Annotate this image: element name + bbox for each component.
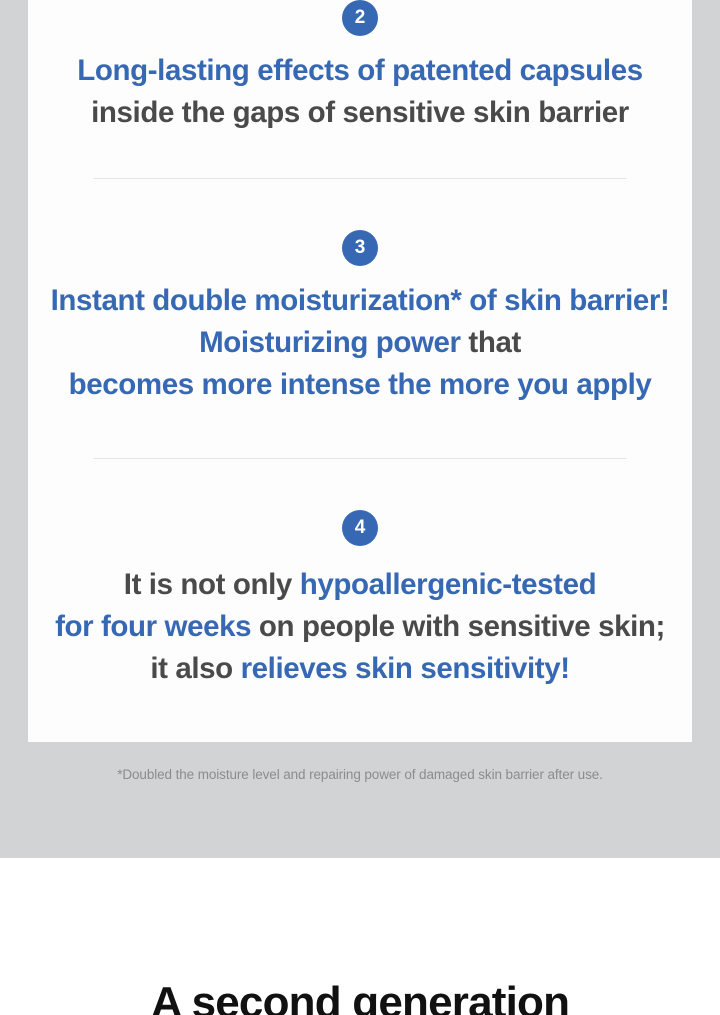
headline-line: Moisturizing power that	[28, 322, 692, 364]
headline-segment: becomes more intense the more you apply	[69, 368, 652, 401]
headline-segment: Instant double moisturization* of skin b…	[51, 284, 670, 317]
next-section-panel: A second generation	[0, 858, 720, 1015]
headline-segment: Moisturizing power	[199, 326, 461, 359]
feature-headline-2: Long-lasting effects of patented capsule…	[28, 50, 692, 134]
feature-headline-3: Instant double moisturization* of skin b…	[28, 280, 692, 406]
headline-segment: for four weeks	[55, 610, 251, 643]
feature-block-2: 2 Long-lasting effects of patented capsu…	[28, 0, 692, 134]
headline-segment: inside the gaps of sensitive skin barrie…	[91, 96, 629, 129]
headline-segment: It is not only	[124, 568, 300, 601]
footnote-disclaimer: *Doubled the moisture level and repairin…	[0, 765, 720, 785]
headline-line: Long-lasting effects of patented capsule…	[28, 50, 692, 92]
feature-highlights-card: 2 Long-lasting effects of patented capsu…	[28, 0, 692, 742]
headline-segment: Long-lasting effects of patented capsule…	[77, 54, 643, 87]
headline-segment: hypoallergenic-tested	[300, 568, 597, 601]
headline-segment: it also	[150, 652, 240, 685]
feature-block-3: 3 Instant double moisturization* of skin…	[28, 230, 692, 406]
headline-segment: relieves skin sensitivity!	[241, 652, 570, 685]
next-section-title: A second generation	[0, 978, 720, 1015]
step-number-badge-4: 4	[342, 510, 378, 546]
step-number-badge-3: 3	[342, 230, 378, 266]
headline-line: for four weeks on people with sensitive …	[28, 606, 692, 648]
headline-line: it also relieves skin sensitivity!	[28, 648, 692, 690]
headline-line: Instant double moisturization* of skin b…	[28, 280, 692, 322]
headline-line: becomes more intense the more you apply	[28, 364, 692, 406]
headline-segment: on people with sensitive skin;	[251, 610, 665, 643]
headline-line: It is not only hypoallergenic-tested	[28, 564, 692, 606]
headline-line: inside the gaps of sensitive skin barrie…	[28, 92, 692, 134]
step-number-badge-2: 2	[342, 0, 378, 36]
section-divider	[93, 458, 627, 459]
feature-block-4: 4 It is not only hypoallergenic-tested f…	[28, 510, 692, 690]
product-detail-page: 2 Long-lasting effects of patented capsu…	[0, 0, 720, 1015]
headline-segment: that	[461, 326, 521, 359]
section-divider	[93, 178, 627, 179]
feature-headline-4: It is not only hypoallergenic-tested for…	[28, 564, 692, 690]
